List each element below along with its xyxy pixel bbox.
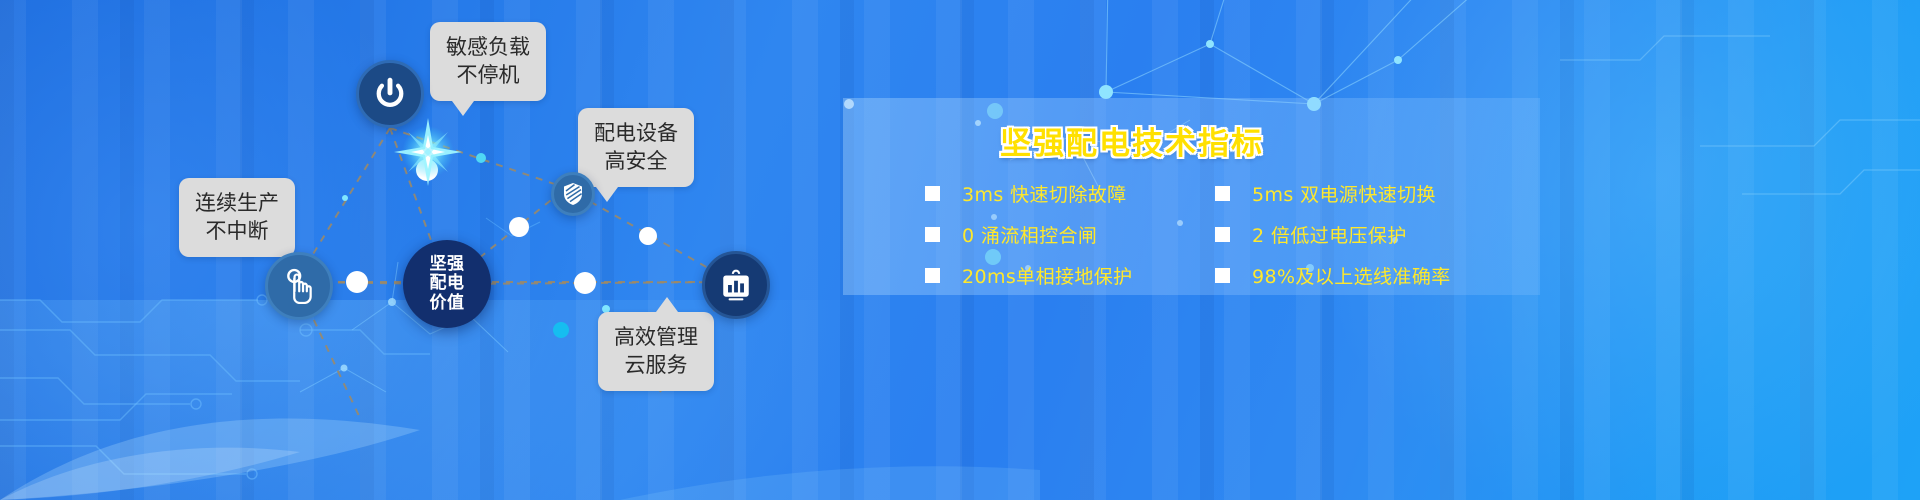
spec-label: 2 倍低过电压保护 bbox=[1252, 221, 1407, 248]
callout-tail bbox=[596, 187, 618, 202]
power-icon bbox=[373, 77, 407, 111]
callout-line-1: 高效管理 bbox=[614, 324, 698, 352]
callout-continuous-production: 连续生产 不中断 bbox=[179, 178, 295, 257]
bullet-square-icon bbox=[925, 227, 940, 242]
spec-label: 20ms单相接地保护 bbox=[962, 262, 1133, 289]
callout-tail bbox=[656, 297, 678, 312]
spec-label: 98%及以上选线准确率 bbox=[1252, 262, 1451, 289]
shield-node[interactable] bbox=[551, 172, 595, 216]
callout-tail bbox=[452, 101, 474, 116]
bullet-square-icon bbox=[1215, 268, 1230, 283]
spec-item: 0 涌流相控合闸 bbox=[925, 214, 1205, 255]
spec-item: 2 倍低过电压保护 bbox=[1215, 214, 1505, 255]
callout-line-2: 高安全 bbox=[594, 148, 678, 176]
bullet-square-icon bbox=[925, 268, 940, 283]
callout-line-2: 云服务 bbox=[614, 352, 698, 380]
callout-line-1: 连续生产 bbox=[195, 190, 279, 218]
touch-node[interactable] bbox=[265, 252, 333, 320]
specs-title: 坚强配电技术指标 bbox=[1000, 118, 1264, 163]
distribution-banner: 敏感负载 不停机 配电设备 高安全 连续生产 不中断 高效管理 云服务 bbox=[0, 0, 1920, 500]
spec-item: 5ms 双电源快速切换 bbox=[1215, 173, 1505, 214]
spec-label: 5ms 双电源快速切换 bbox=[1252, 180, 1436, 207]
callout-line-2: 不停机 bbox=[446, 62, 530, 90]
bullet-square-icon bbox=[1215, 186, 1230, 201]
center-line-2: 配电 bbox=[430, 274, 465, 293]
callout-sensitive-load: 敏感负载 不停机 bbox=[430, 22, 546, 101]
touch-hand-icon bbox=[282, 268, 316, 304]
power-node[interactable] bbox=[356, 60, 424, 128]
bullet-square-icon bbox=[1215, 227, 1230, 242]
spec-item: 3ms 快速切除故障 bbox=[925, 173, 1205, 214]
callout-line-1: 敏感负载 bbox=[446, 34, 530, 62]
spec-label: 3ms 快速切除故障 bbox=[962, 180, 1127, 207]
callout-line-1: 配电设备 bbox=[594, 120, 678, 148]
spec-item: 98%及以上选线准确率 bbox=[1215, 255, 1505, 296]
callout-distribution-safety: 配电设备 高安全 bbox=[578, 108, 694, 187]
spec-item: 20ms单相接地保护 bbox=[925, 255, 1205, 296]
center-line-1: 坚强 bbox=[430, 255, 465, 274]
center-line-3: 价值 bbox=[430, 294, 465, 313]
shield-icon bbox=[562, 182, 584, 206]
bar-chart-node[interactable] bbox=[702, 251, 770, 319]
spec-label: 0 涌流相控合闸 bbox=[962, 221, 1097, 248]
specs-grid: 3ms 快速切除故障 5ms 双电源快速切换 0 涌流相控合闸 2 倍低过电压保… bbox=[925, 173, 1525, 296]
bar-chart-icon bbox=[719, 269, 753, 301]
glow-bottom bbox=[0, 300, 900, 500]
callout-line-2: 不中断 bbox=[195, 218, 279, 246]
center-value-circle: 坚强 配电 价值 bbox=[403, 240, 491, 328]
bullet-square-icon bbox=[925, 186, 940, 201]
callout-cloud-service: 高效管理 云服务 bbox=[598, 312, 714, 391]
